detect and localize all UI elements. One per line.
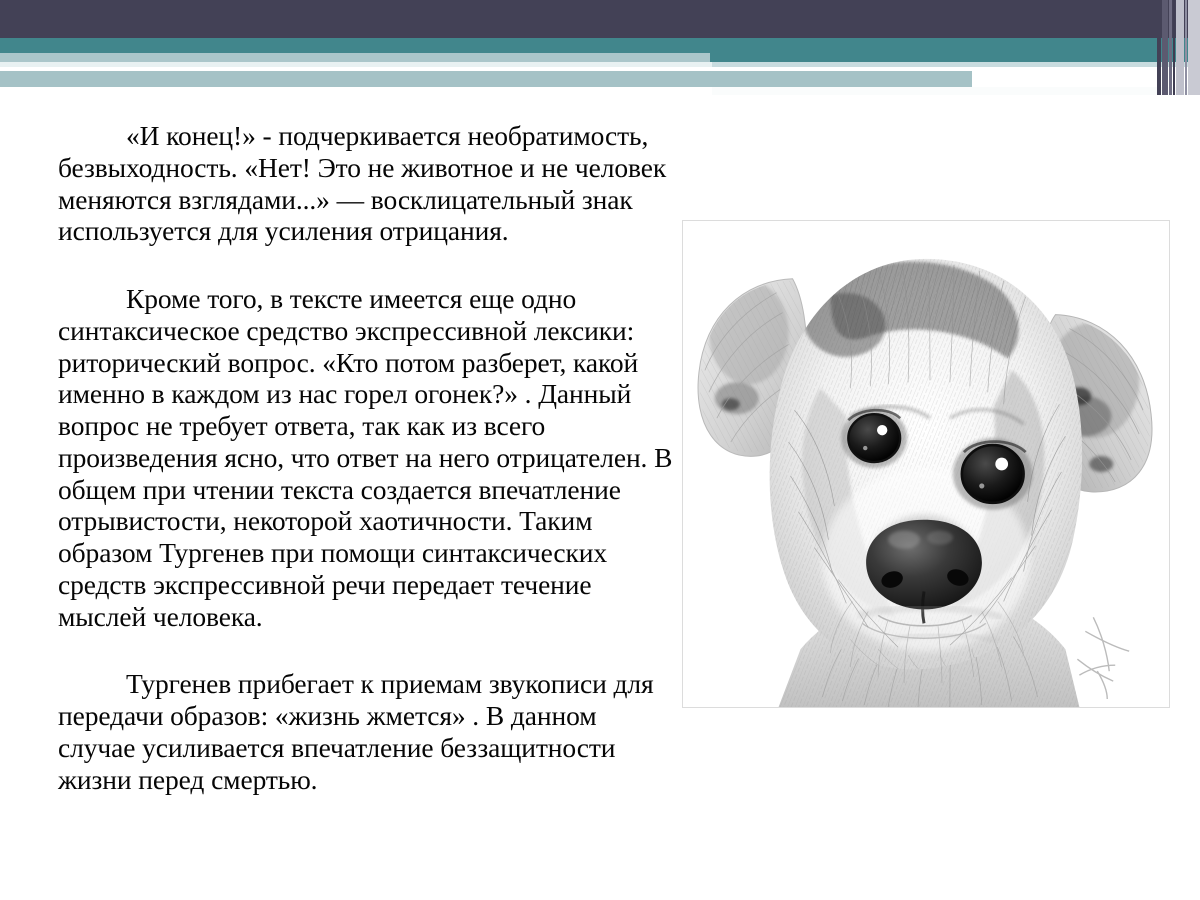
decorative-header-banner	[0, 0, 1200, 95]
dog-portrait-svg	[683, 221, 1169, 707]
header-accent-bar-4	[1173, 0, 1175, 95]
body-paragraph-1: «И конец!» - подчеркивается необратимост…	[58, 120, 673, 247]
header-band-base-right	[712, 87, 1200, 95]
body-paragraph-2: Кроме того, в тексте имеется еще одно си…	[58, 283, 673, 632]
header-band-pale-left	[0, 53, 712, 62]
dog-left-eye	[841, 408, 907, 468]
presentation-slide: «И конец!» - подчеркивается необратимост…	[0, 0, 1200, 900]
header-accent-bar-6	[1185, 0, 1187, 95]
header-band-dark	[0, 0, 1200, 38]
header-accent-bar-3	[1169, 0, 1172, 95]
slide-text-column: «И конец!» - подчеркивается необратимост…	[58, 120, 673, 795]
body-paragraph-3: Тургенев прибегает к приемам звукописи д…	[58, 668, 673, 795]
header-accent-bar-7	[1188, 0, 1200, 95]
dog-portrait-image	[682, 220, 1170, 708]
header-band-teal-step	[710, 53, 1200, 62]
header-band-base-left	[0, 87, 712, 95]
header-accent-bar-1	[1157, 0, 1161, 95]
header-band-wide-pale	[0, 71, 972, 87]
header-accent-bar-5	[1176, 0, 1184, 95]
dog-right-eye	[953, 438, 1033, 510]
header-accent-bars	[1155, 0, 1200, 95]
header-accent-bar-2	[1162, 0, 1168, 95]
header-band-teal	[0, 38, 1200, 53]
